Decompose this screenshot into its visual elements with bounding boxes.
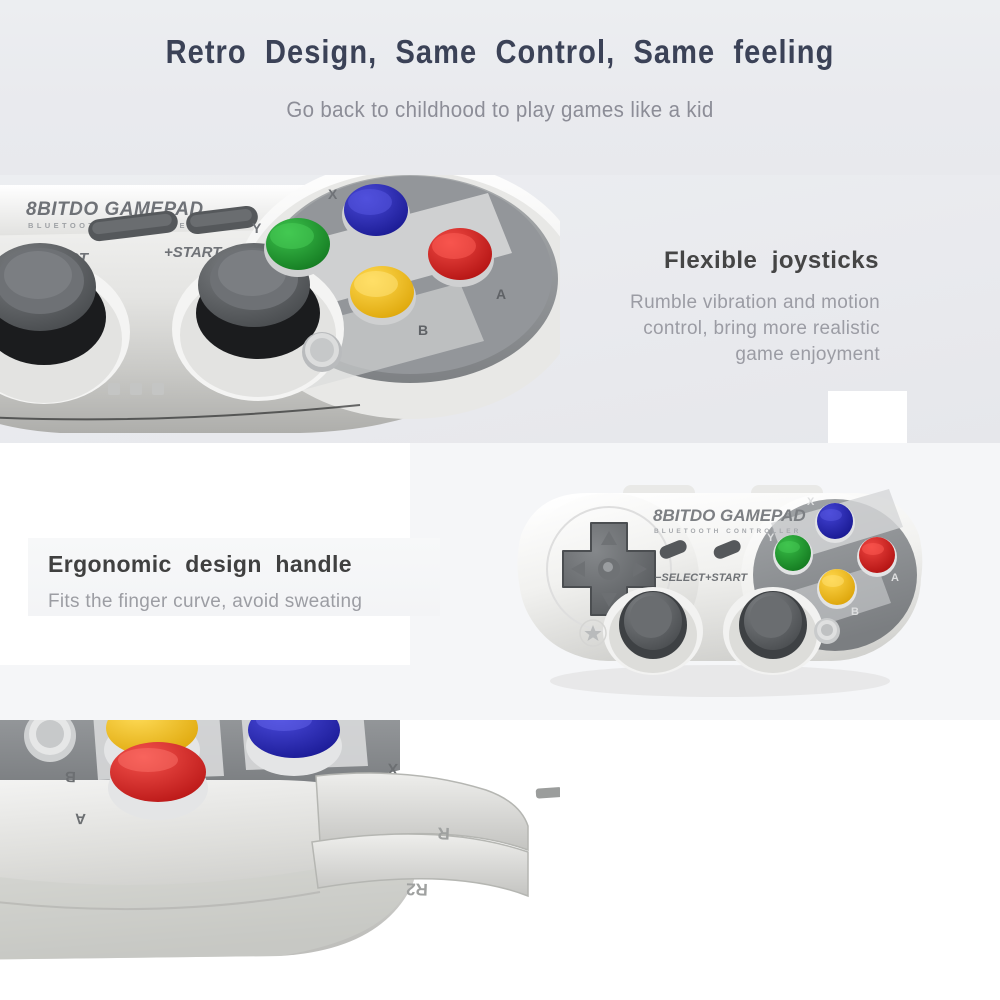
shoulder-label-r2: R2: [406, 879, 428, 899]
decorative-white-block: [828, 391, 907, 443]
svg-text:−SELECT: −SELECT: [655, 572, 706, 584]
page-header: Retro Design, Same Control, Same feeling…: [0, 0, 1000, 175]
section-title-ergonomic-design-handle: Ergonomic design handle: [48, 551, 352, 578]
brand-logo-text: 8BITDO GAMEPAD: [26, 199, 204, 220]
svg-text:A: A: [891, 572, 899, 584]
section-ergonomic-design-handle: Ergonomic design handle Fits the finger …: [0, 443, 1000, 720]
section-abs-shell: B A X R R2 ABS shell Anti-scratch, comfo…: [0, 720, 1000, 1000]
svg-text:BLUETOOTH CONTROLLER: BLUETOOTH CONTROLLER: [654, 528, 801, 535]
svg-text:X: X: [807, 496, 815, 508]
section-title-flexible-joysticks: Flexible joysticks: [664, 247, 879, 275]
svg-text:B: B: [418, 322, 428, 338]
svg-text:+START: +START: [705, 572, 748, 584]
gamepad-full-view-photo: 8BITDO GAMEPAD BLUETOOTH CONTROLLER −SEL…: [505, 465, 935, 703]
svg-text:A: A: [496, 286, 506, 302]
svg-text:B: B: [851, 606, 859, 618]
gamepad-shoulder-closeup-photo: B A X R R2: [0, 720, 560, 960]
section-body-ergonomic-design-handle: Fits the finger curve, avoid sweating: [48, 591, 362, 613]
product-feature-page: Retro Design, Same Control, Same feeling…: [0, 0, 1000, 1000]
page-subtitle: Go back to childhood to play games like …: [35, 97, 965, 123]
shoulder-label-r: R: [437, 824, 450, 843]
page-title: Retro Design, Same Control, Same feeling: [60, 33, 940, 71]
svg-text:Y: Y: [252, 220, 262, 236]
section-body-flexible-joysticks: Rumble vibration and motion control, bri…: [580, 290, 880, 368]
gamepad-joystick-closeup-photo: 8BITDO GAMEPAD BLUETOOTH CONTROLLER ECT …: [0, 175, 560, 443]
svg-text:Y: Y: [767, 532, 775, 544]
svg-text:B: B: [65, 768, 77, 785]
svg-text:X: X: [328, 186, 338, 202]
svg-text:A: A: [75, 810, 87, 827]
brand-logo-text: 8BITDO GAMEPAD: [653, 506, 806, 525]
